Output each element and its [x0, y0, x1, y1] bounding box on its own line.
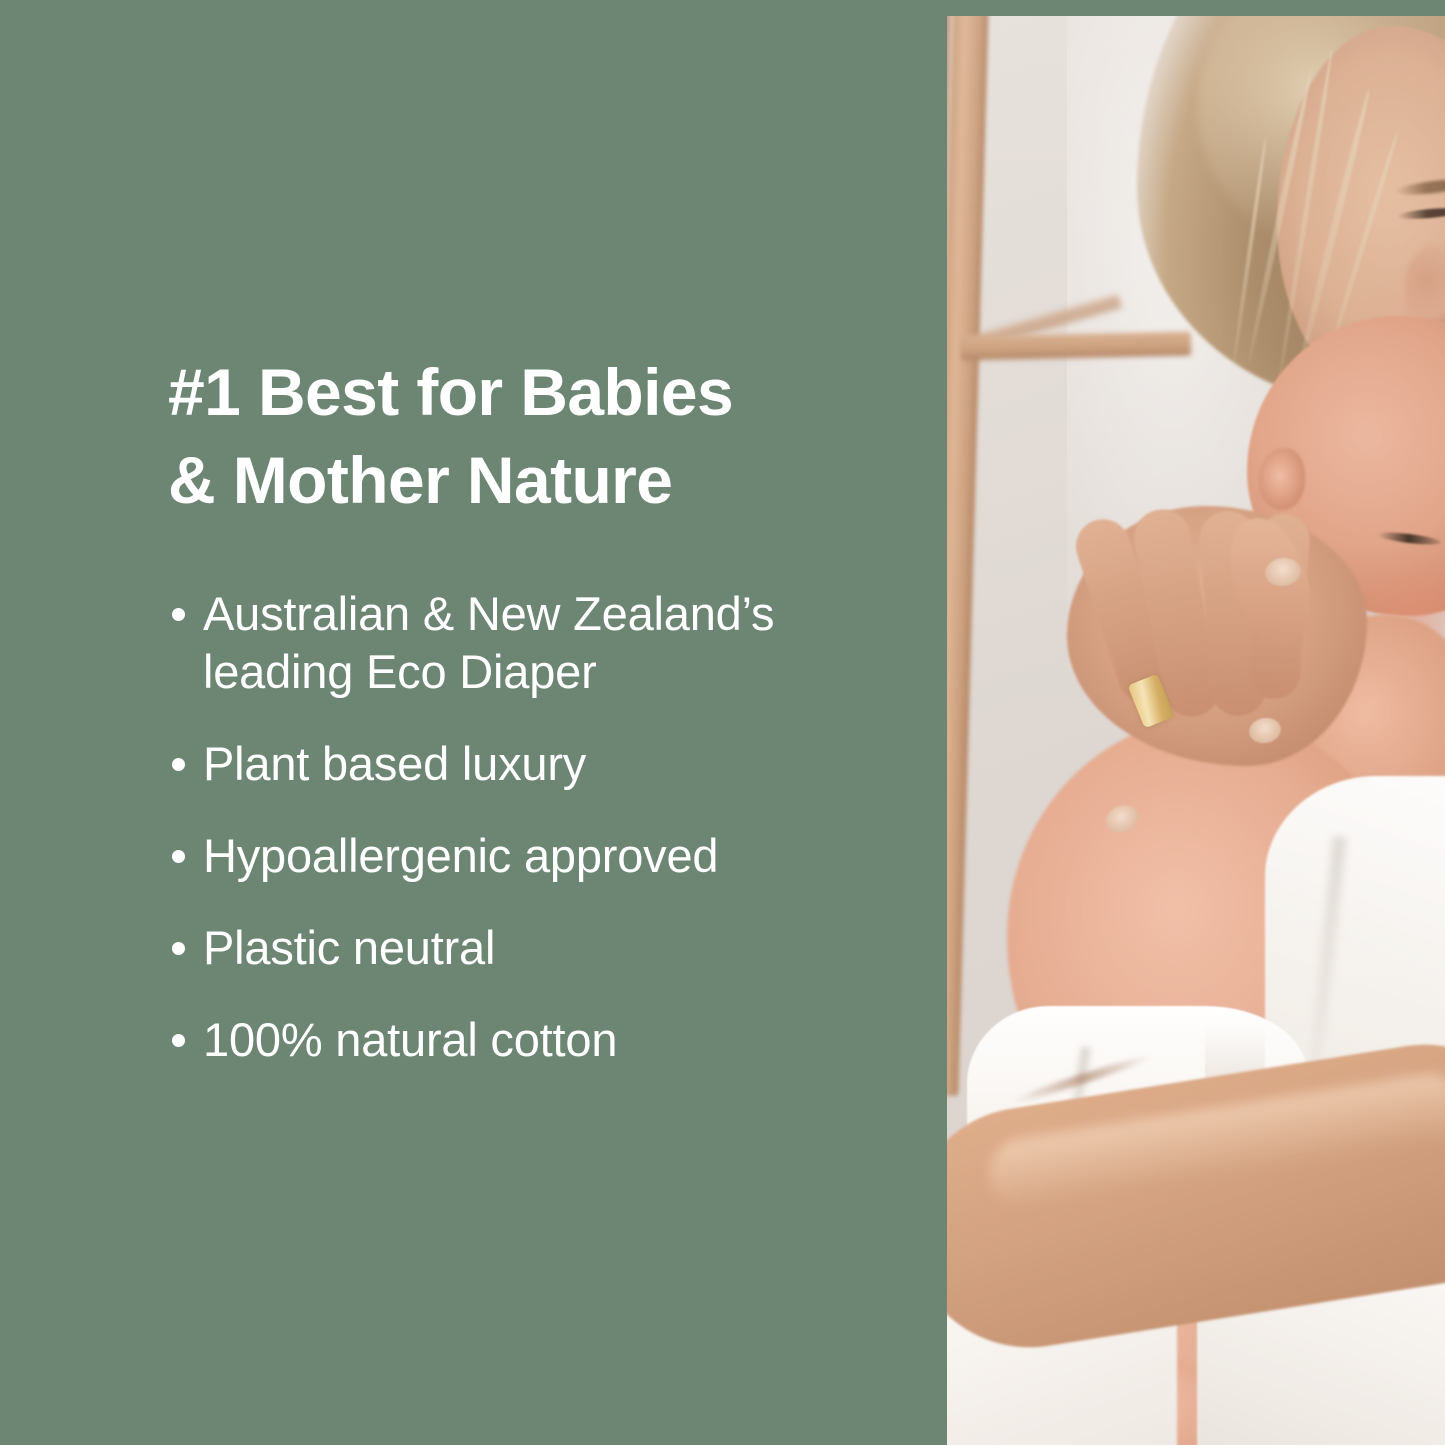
list-item-label: 100% natural cotton: [203, 1011, 888, 1069]
list-item: Plastic neutral: [168, 919, 888, 977]
product-benefits-banner: #1 Best for Babies & Mother Nature Austr…: [0, 0, 1445, 1445]
bullet-dot-icon: [172, 1034, 185, 1047]
list-item-label: Australian & New Zealand’s leading Eco D…: [203, 585, 888, 701]
list-item: Hypoallergenic approved: [168, 827, 888, 885]
lifestyle-photo: [947, 16, 1445, 1445]
list-item-label: Hypoallergenic approved: [203, 827, 888, 885]
list-item-label: Plastic neutral: [203, 919, 888, 977]
page-title: #1 Best for Babies & Mother Nature: [168, 348, 868, 524]
bullet-dot-icon: [172, 942, 185, 955]
bullet-dot-icon: [172, 850, 185, 863]
list-item: Plant based luxury: [168, 735, 888, 793]
list-item: Australian & New Zealand’s leading Eco D…: [168, 585, 888, 701]
list-item: 100% natural cotton: [168, 1011, 888, 1069]
photo-baby-ear: [1259, 448, 1305, 510]
bullet-dot-icon: [172, 758, 185, 771]
list-item-label: Plant based luxury: [203, 735, 888, 793]
copy-panel: #1 Best for Babies & Mother Nature Austr…: [0, 0, 907, 1445]
photo-wooden-ladder-rung: [961, 332, 1191, 361]
bullet-dot-icon: [172, 608, 185, 621]
benefits-list: Australian & New Zealand’s leading Eco D…: [168, 585, 888, 1069]
